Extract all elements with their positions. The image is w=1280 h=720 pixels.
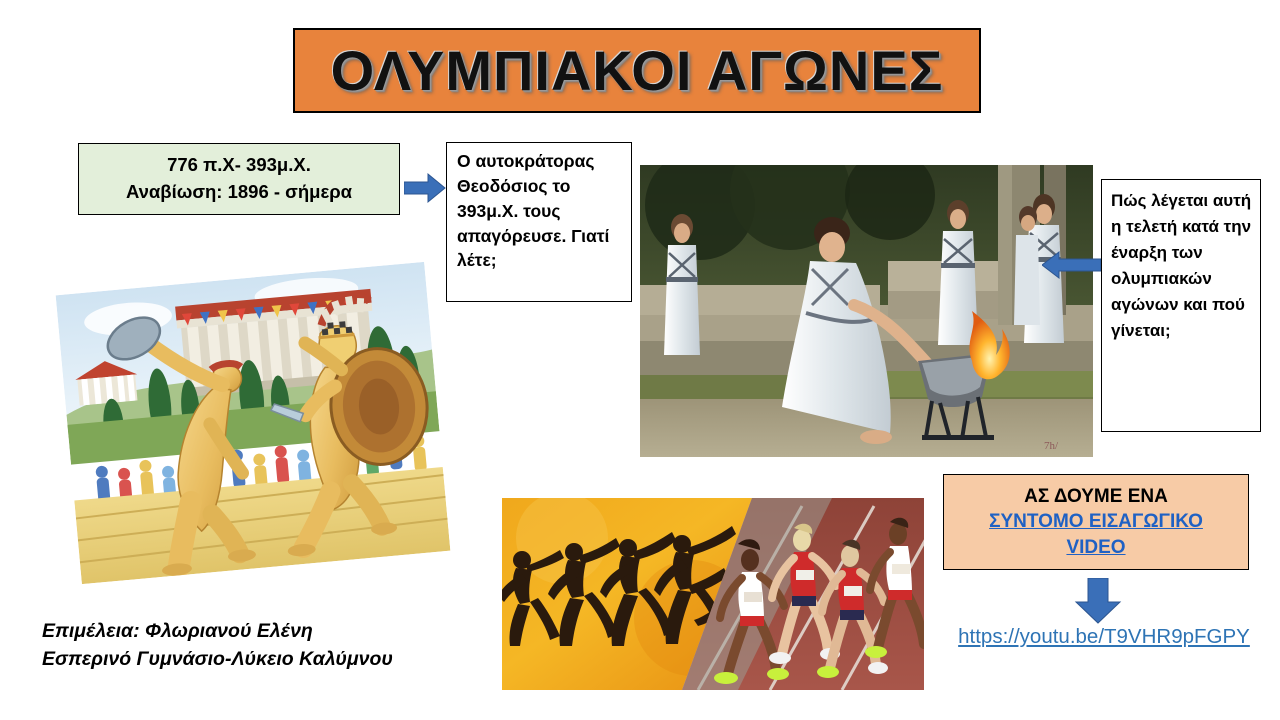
question-box-ceremony: Πώς λέγεται αυτή η τελετή κατά την έναρξ… <box>1101 179 1261 432</box>
arrow-right-icon <box>404 172 446 204</box>
slide-title-banner: ΟΛΥΜΠΙΑΚΟΙ ΑΓΩΝΕΣ <box>293 28 981 113</box>
question-text-theodosius: Ο αυτοκράτορας Θεοδόσιος το 393μ.Χ. τους… <box>457 149 623 273</box>
facts-line-1: 776 π.Χ- 393μ.Χ. <box>167 152 311 179</box>
video-link-line-2[interactable]: VIDEO <box>1066 535 1125 561</box>
youtube-url-link[interactable]: https://youtu.be/T9VHR9pFGPY <box>944 625 1264 649</box>
video-link-line-1[interactable]: ΣΥΝΤΟΜΟ ΕΙΣΑΓΩΓΙΚΟ <box>989 509 1203 535</box>
credits-line-2: Εσπερινό Γυμνάσιο-Λύκειο Καλύμνου <box>42 646 512 674</box>
facts-line-2: Αναβίωση: 1896 - σήμερα <box>126 179 352 206</box>
olympic-flame-ceremony-image: 7h/ <box>640 165 1093 457</box>
svg-text:7h/: 7h/ <box>1044 440 1059 452</box>
facts-box: 776 π.Χ- 393μ.Χ. Αναβίωση: 1896 - σήμερα <box>78 143 400 215</box>
credits-line-1: Επιμέλεια: Φλωριανού Ελένη <box>42 618 512 646</box>
video-heading: ΑΣ ΔΟΥΜΕ ΕΝΑ <box>1024 484 1168 510</box>
arrow-left-icon <box>1042 250 1102 280</box>
page-title: ΟΛΥΜΠΙΑΚΟΙ ΑΓΩΝΕΣ <box>331 43 944 99</box>
question-box-theodosius: Ο αυτοκράτορας Θεοδόσιος το 393μ.Χ. τους… <box>446 142 632 302</box>
runners-composite-image <box>502 498 924 690</box>
arrow-down-icon <box>1072 578 1124 624</box>
video-prompt-box: ΑΣ ΔΟΥΜΕ ΕΝΑ ΣΥΝΤΟΜΟ ΕΙΣΑΓΩΓΙΚΟ VIDEO <box>943 474 1249 570</box>
slide-canvas: ΟΛΥΜΠΙΑΚΟΙ ΑΓΩΝΕΣ 776 π.Χ- 393μ.Χ. Αναβί… <box>0 0 1280 720</box>
ancient-athletes-illustration <box>56 262 451 584</box>
credits-block: Επιμέλεια: Φλωριανού Ελένη Εσπερινό Γυμν… <box>42 618 512 673</box>
question-text-ceremony: Πώς λέγεται αυτή η τελετή κατά την έναρξ… <box>1111 188 1254 344</box>
